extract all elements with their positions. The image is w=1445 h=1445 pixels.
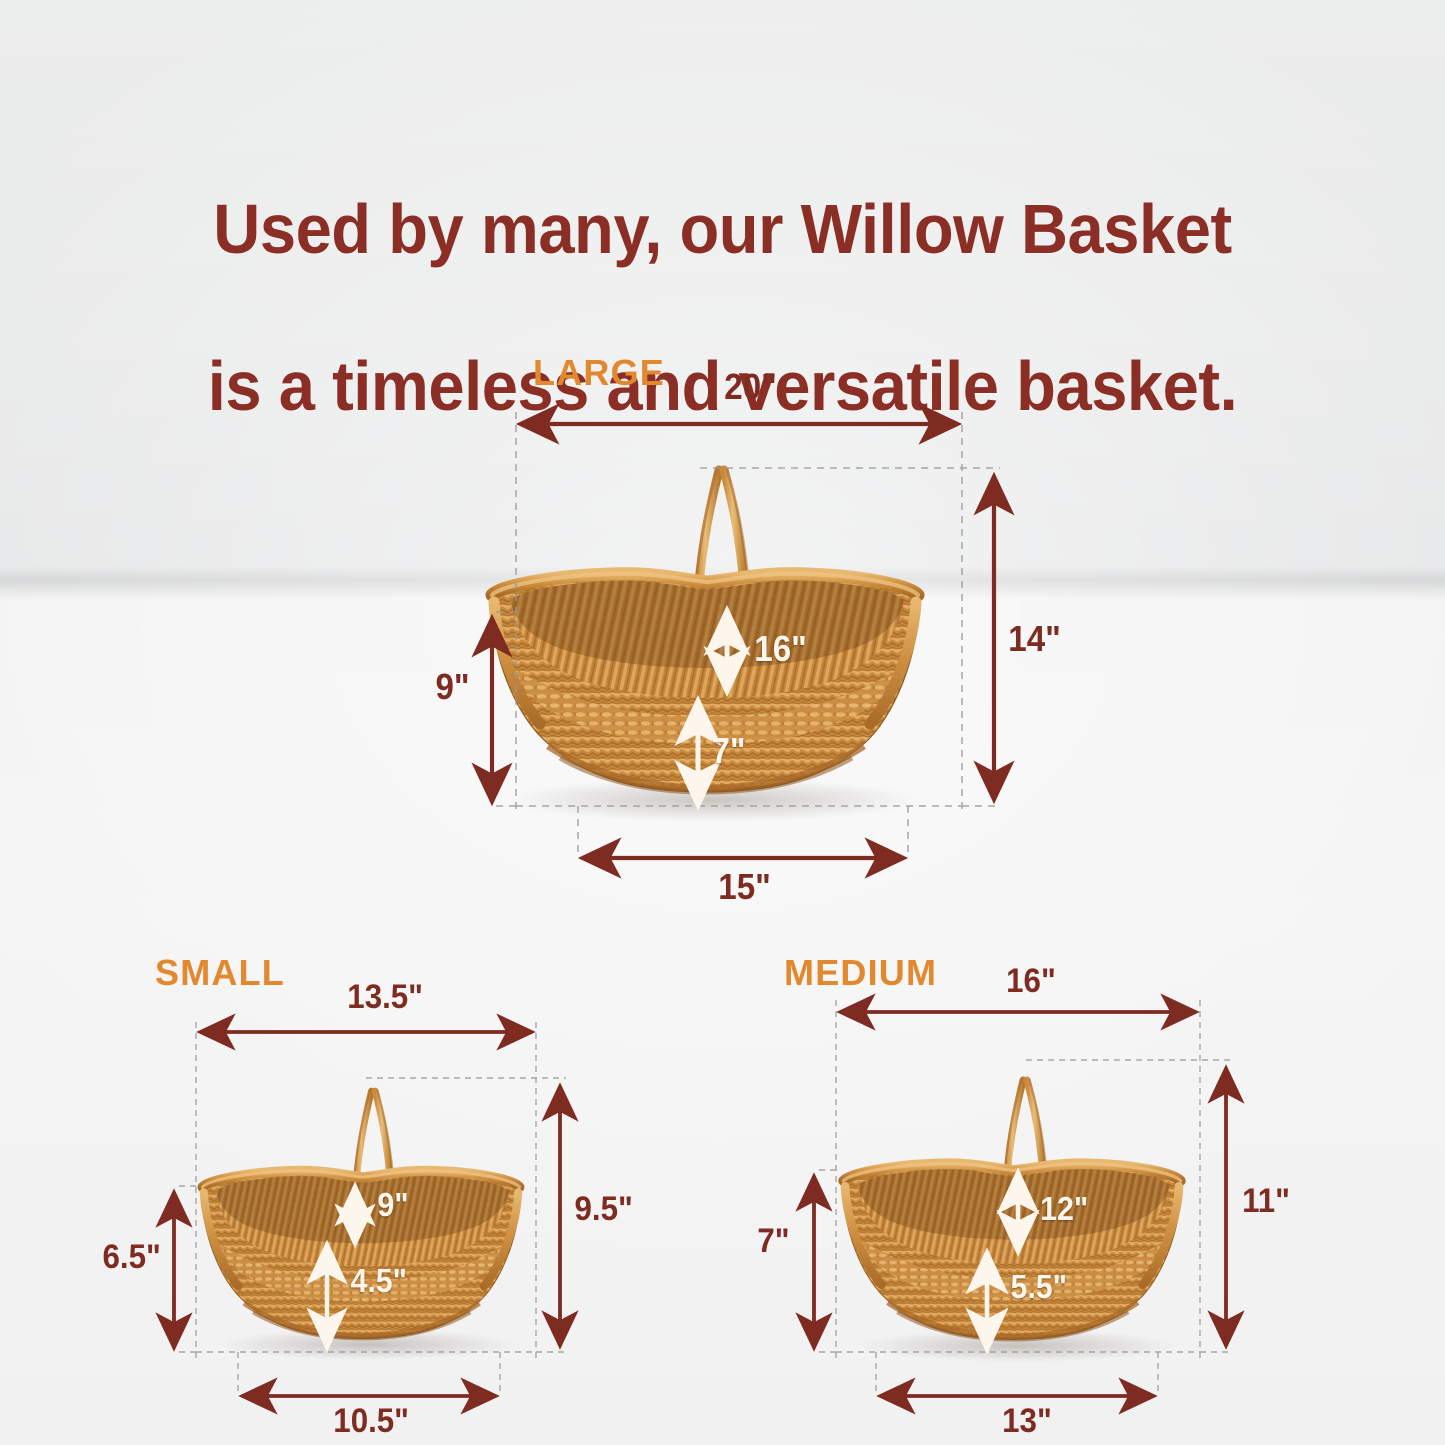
dimension-medium-outer-width: 16" xyxy=(1006,962,1056,1001)
basket-image-medium xyxy=(826,1056,1198,1362)
basket-image-small xyxy=(186,1068,536,1360)
dimension-small-outer-height: 9.5" xyxy=(575,1190,633,1229)
dimension-large-body-height: 9" xyxy=(435,666,469,708)
dimension-large-inner-depth: 7" xyxy=(711,730,745,772)
headline-line-1: Used by many, our Willow Basket xyxy=(213,190,1231,268)
dimension-medium-body-height: 7" xyxy=(757,1222,789,1261)
dimension-small-outer-width: 13.5" xyxy=(347,978,423,1017)
dimension-large-outer-width: 20" xyxy=(724,366,777,408)
size-label-medium: MEDIUM xyxy=(784,952,937,994)
headline-line-2: is a timeless and versatile basket. xyxy=(208,347,1238,425)
dimension-small-base-width: 10.5" xyxy=(333,1402,409,1441)
dimension-medium-base-width: 13" xyxy=(1002,1402,1052,1441)
basket-image-large xyxy=(470,440,940,820)
dimension-small-handle-height: 9" xyxy=(377,1186,408,1224)
dimension-large-handle-height: 16" xyxy=(754,628,807,670)
dimension-medium-handle-height: 12" xyxy=(1040,1190,1088,1228)
dimension-small-body-height: 6.5" xyxy=(103,1238,161,1277)
headline: Used by many, our Willow Basket is a tim… xyxy=(51,112,1395,426)
dimension-small-inner-depth: 4.5" xyxy=(350,1262,407,1300)
infographic-canvas: Used by many, our Willow Basket is a tim… xyxy=(0,0,1445,1445)
size-label-small: SMALL xyxy=(155,952,285,994)
size-label-large: LARGE xyxy=(533,352,665,394)
dimension-medium-outer-height: 11" xyxy=(1242,1182,1290,1221)
dimension-large-outer-height: 14" xyxy=(1008,618,1061,660)
dimension-large-base-width: 15" xyxy=(718,866,771,908)
dimension-medium-inner-depth: 5.5" xyxy=(1010,1268,1067,1306)
